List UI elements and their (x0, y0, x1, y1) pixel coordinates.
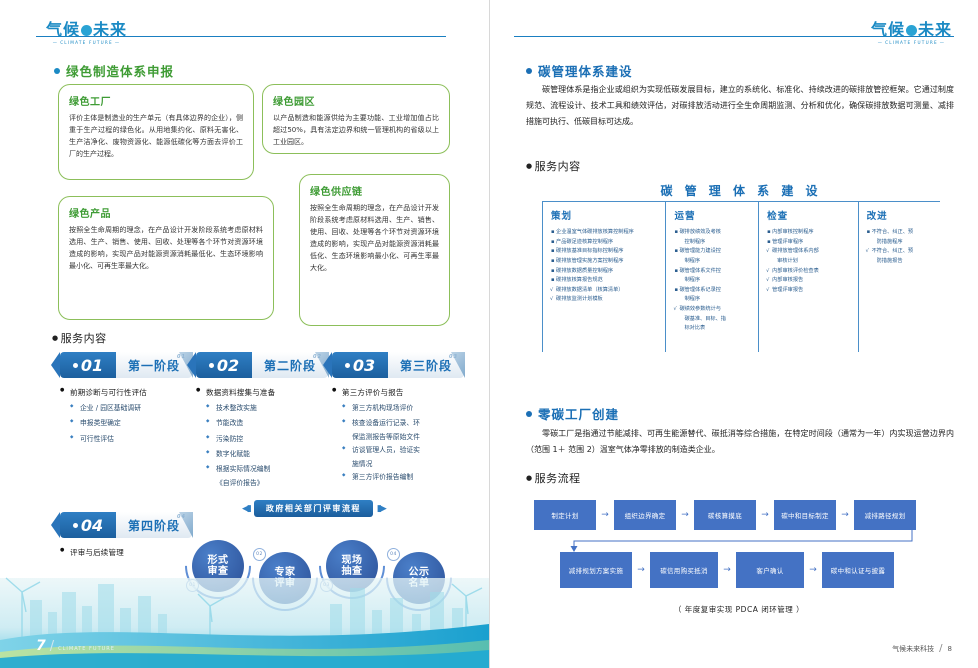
stage-ghost-number: 01 (177, 354, 186, 360)
progress-ring-icon (372, 531, 465, 624)
bullet-icon (526, 68, 532, 74)
gov-step-circle-1: 01 形式 审查 (192, 540, 244, 592)
arrow-icon: → (836, 510, 854, 520)
list-item: 内部审核控制程序 (767, 228, 853, 238)
step-index: 04 (387, 548, 400, 561)
list-item: 可行性评估 (60, 435, 192, 445)
stage-knob-icon (345, 363, 350, 368)
flow-caption: （ 年度复审实现 PDCA 闭环管理 ） (534, 604, 944, 615)
list-item: 审核计划 (767, 257, 853, 267)
list-item: 第三方机构现场评价 (332, 404, 464, 414)
list-item: 企业温室气体碳排放核算控制程序 (551, 228, 660, 238)
stage-ghost-number: 04 (177, 514, 186, 520)
card-title: 绿色供应链 (310, 183, 439, 198)
list-item: 防措施程序 (867, 238, 935, 248)
stage-ghost-number: 03 (449, 354, 458, 360)
list-item: 访谈管理人员，验证实 (332, 446, 464, 456)
page-number-right: 8 (948, 645, 952, 653)
flow-connector-wrap (534, 530, 944, 552)
page-number-left: 7 (36, 638, 46, 654)
progress-ring-icon (305, 519, 398, 612)
gov-step-circle-4: 04 公示 名单 (393, 552, 445, 604)
brand-logo-subtext: CLIMATE FUTURE (51, 40, 122, 45)
list-item: 控制程序 (674, 238, 753, 248)
footer-right: 气候未来科技 / 8 (892, 643, 952, 654)
subheading-service-content-left: 服务内容 (52, 330, 107, 346)
list-item: 碳排放监测计划模板 (551, 295, 660, 305)
column-header: 策划 (551, 208, 660, 222)
arrow-left-icon: ◀▮ (242, 504, 250, 514)
card-green-product: 绿色产品 按照全生命周期的理念，在产品设计开发阶段系统考虑原材料选用、生产、销售… (58, 196, 274, 320)
list-item: 第三方评价报告编制 (332, 473, 464, 483)
list-item: 技术整改实施 (196, 404, 328, 414)
stage-block-01: 01 第一阶段 01 前期诊断与可行性评估 企业 / 园区基础调研 申报类型确定… (60, 352, 192, 450)
list-item: 碳管理能力建设控 (674, 247, 753, 257)
list-item: 申报类型确定 (60, 419, 192, 429)
section-title-carbon-management: 碳管理体系建设 (526, 61, 633, 80)
list-item: 碳排放数据清单（核算清单） (551, 286, 660, 296)
list-item: 企业 / 园区基础调研 (60, 404, 192, 414)
list-item: 制程序 (674, 295, 753, 305)
arrow-icon: → (676, 510, 694, 520)
carbon-management-system-table: 碳 管 理 体 系 建 设 策划 企业温室气体碳排放核算控制程序 产品碳足迹核算… (542, 182, 940, 352)
card-green-factory: 绿色工厂 评价主体是制造业的生产单元（有具体边界的企业），侧重于生产过程的绿色化… (58, 84, 254, 180)
section-title-green-manufacturing: 绿色制造体系申报 (54, 61, 174, 80)
stage-knob-icon (209, 363, 214, 368)
flow-box: 碳中和目标制定 (774, 500, 836, 530)
table-column-improve: 改进 不符合、纠正、预 防措施程序 不符合、纠正、预 防措施报告 (858, 202, 940, 352)
stage-tag: 04 第四阶段 04 (60, 512, 192, 538)
list-item: 制程序 (674, 257, 753, 267)
gov-step-circle-3: 03 现场 抽查 (326, 540, 378, 592)
step-index: 03 (320, 579, 333, 592)
stage-block-04: 04 第四阶段 04 评审与后续管理 (60, 512, 192, 564)
stage-knob-icon (73, 363, 78, 368)
column-header: 改进 (867, 208, 935, 222)
logo-dot-icon (906, 25, 917, 36)
page-right: 气候未来 CLIMATE FUTURE 碳管理体系建设 碳管理体系是指企业或组织… (489, 0, 978, 668)
list-item: 不符合、纠正、预 (867, 228, 935, 238)
list-item: 不符合、纠正、预 (867, 247, 935, 257)
stage-list: 评审与后续管理 (60, 547, 192, 558)
list-item: 管理评审报告 (767, 286, 853, 296)
flow-row-2: 减排规划方案实施 → 碳信用购买抵消 → 客户确认 → 碳中和认证与披露 (534, 552, 944, 588)
section-title-text: 绿色制造体系申报 (66, 61, 174, 80)
footer-slash: / (50, 639, 54, 654)
column-header: 检查 (767, 208, 853, 222)
brand-logo-right: 气候未来 CLIMATE FUTURE (871, 22, 952, 45)
column-list: 不符合、纠正、预 防措施程序 不符合、纠正、预 防措施报告 (867, 228, 935, 267)
table-column-operation: 运营 碳排放绩效及考核 控制程序 碳管理能力建设控 制程序 碳管理体系文件控 制… (665, 202, 758, 352)
list-item-continuation: 保监测报告等原始文件 (332, 431, 464, 441)
brand-logo-left: 气候未来 CLIMATE FUTURE (46, 22, 127, 45)
footer-slash: / (939, 643, 942, 654)
list-item: 碳管理体系记录控 (674, 286, 753, 296)
list-item-continuation: 《自评价报告》 (196, 477, 328, 487)
stage-tag: 03 第三阶段 03 (332, 352, 464, 378)
paragraph-zero-carbon-factory: 零碳工厂是指通过节能减排、可再生能源替代、碳抵消等综合措施，在特定时间段（通常为… (526, 426, 954, 458)
list-item: 碳排放数据质量控制程序 (551, 267, 660, 277)
brand-logo-text: 气候未来 (46, 22, 127, 38)
zero-carbon-flow-diagram: 制定计划 → 组织边界确定 → 碳核算摸底 → 碳中和目标制定 → 减排路径规划… (534, 500, 944, 615)
footer-label-left: CLIMATE FUTURE (58, 646, 115, 654)
list-item: 碳排放核算报告规范 (551, 276, 660, 286)
brand-logo-subtext: CLIMATE FUTURE (876, 40, 947, 45)
stage-list: 第三方评价与报告 第三方机构现场评价 核查设备运行记录、环 保监测报告等原始文件… (332, 387, 464, 483)
logo-dot-icon (81, 25, 92, 36)
list-item: 节能改造 (196, 419, 328, 429)
list-item-main: 评审与后续管理 (60, 547, 192, 558)
card-body: 以产品制造和能源供给为主要功能、工业增加值占比超过50%，具有法定边界和统一管理… (273, 112, 439, 148)
column-list: 碳排放绩效及考核 控制程序 碳管理能力建设控 制程序 碳管理体系文件控 制程序 … (674, 228, 753, 334)
flow-box: 碳信用购买抵消 (650, 552, 718, 588)
list-item-continuation: 施情况 (332, 458, 464, 468)
step-index: 02 (253, 548, 266, 561)
step-index: 01 (186, 579, 199, 592)
list-item: 碳排放管理体系内部 (767, 247, 853, 257)
stage-knob-icon (73, 523, 78, 528)
card-body: 按照全生命周期的理念，在产品设计开发阶段系统考虑原材料选用、生产、销售、使用、回… (310, 202, 439, 274)
flow-box: 减排路径规划 (854, 500, 916, 530)
flow-box: 减排规划方案实施 (560, 552, 632, 588)
stage-tag: 02 第二阶段 02 (196, 352, 328, 378)
stage-label: 第一阶段 01 (116, 352, 192, 378)
list-item: 制程序 (674, 276, 753, 286)
table-column-plan: 策划 企业温室气体碳排放核算控制程序 产品碳足迹核算控制程序 碳排放基准目标指标… (542, 202, 665, 352)
section-title-text: 碳管理体系建设 (538, 61, 633, 80)
gov-review-banner-label: 政府相关部门评审流程 (254, 500, 373, 517)
list-item: 碳排放基准目标指标控制程序 (551, 247, 660, 257)
arrow-icon: → (632, 565, 650, 575)
card-title: 绿色园区 (273, 93, 439, 108)
stage-number: 03 (332, 352, 388, 378)
stage-block-03: 03 第三阶段 03 第三方评价与报告 第三方机构现场评价 核查设备运行记录、环… (332, 352, 464, 488)
table-column-check: 检查 内部审核控制程序 管理评审程序 碳排放管理体系内部 审核计划 内部审核评价… (758, 202, 858, 352)
section-title-zero-carbon-factory: 零碳工厂创建 (526, 404, 619, 423)
arrow-icon: → (804, 565, 822, 575)
flow-box: 碳中和认证与披露 (822, 552, 894, 588)
table-columns: 策划 企业温室气体碳排放核算控制程序 产品碳足迹核算控制程序 碳排放基准目标指标… (542, 202, 940, 352)
list-item: 根据实际情况编制 (196, 465, 328, 475)
stage-label: 第二阶段 02 (252, 352, 328, 378)
stage-number: 01 (60, 352, 116, 378)
card-body: 按照全生命周期的理念，在产品设计开发阶段系统考虑原材料选用、生产、销售、使用、回… (69, 224, 263, 272)
section-title-text: 零碳工厂创建 (538, 404, 619, 423)
arrow-right-icon: ▮▶ (377, 504, 385, 514)
list-item: 产品碳足迹核算控制程序 (551, 238, 660, 248)
list-item: 数字化赋能 (196, 450, 328, 460)
list-item-main: 第三方评价与报告 (332, 387, 464, 398)
flow-box: 碳核算摸底 (694, 500, 756, 530)
list-item-main: 前期诊断与可行性评估 (60, 387, 192, 398)
stage-list: 数据资料搜集与准备 技术整改实施 节能改造 污染防控 数字化赋能 根据实际情况编… (196, 387, 328, 487)
brand-logo-text: 气候未来 (871, 22, 952, 38)
card-body: 评价主体是制造业的生产单元（有具体边界的企业），侧重于生产过程的绿色化。从用地集… (69, 112, 243, 160)
column-list: 内部审核控制程序 管理评审程序 碳排放管理体系内部 审核计划 内部审核评价检查表… (767, 228, 853, 295)
arrow-icon: → (718, 565, 736, 575)
list-item: 碳绩效参数统计与 (674, 305, 753, 315)
stage-tag: 01 第一阶段 01 (60, 352, 192, 378)
list-item: 内部审核评价检查表 (767, 267, 853, 277)
table-title: 碳 管 理 体 系 建 设 (542, 182, 940, 199)
column-header: 运营 (674, 208, 753, 222)
card-title: 绿色工厂 (69, 93, 243, 108)
card-green-park: 绿色园区 以产品制造和能源供给为主要功能、工业增加值占比超过50%，具有法定边界… (262, 84, 450, 154)
flow-box: 客户确认 (736, 552, 804, 588)
stage-number: 02 (196, 352, 252, 378)
card-title: 绿色产品 (69, 205, 263, 220)
subheading-service-flow: 服务流程 (526, 470, 581, 486)
list-item: 碳管理体系文件控 (674, 267, 753, 277)
page-left: 气候未来 CLIMATE FUTURE 绿色制造体系申报 绿色工厂 评价主体是制… (0, 0, 489, 668)
column-list: 企业温室气体碳排放核算控制程序 产品碳足迹核算控制程序 碳排放基准目标指标控制程… (551, 228, 660, 305)
gov-review-banner: ◀▮ 政府相关部门评审流程 ▮▶ (242, 500, 385, 517)
list-item: 标对比表 (674, 324, 753, 334)
subheading-service-content-right: 服务内容 (526, 158, 581, 174)
stage-ghost-number: 02 (313, 354, 322, 360)
footer-left: 7 / CLIMATE FUTURE (36, 638, 115, 654)
progress-ring-icon (238, 531, 331, 624)
paragraph-carbon-management: 碳管理体系是指企业或组织为实现低碳发展目标，建立的系统化、标准化、持续改进的碳排… (526, 82, 954, 130)
list-item: 管理评审程序 (767, 238, 853, 248)
list-item: 碳排放管理实施方案控制程序 (551, 257, 660, 267)
arrow-icon: → (756, 510, 774, 520)
flow-box: 制定计划 (534, 500, 596, 530)
flow-row-1: 制定计划 → 组织边界确定 → 碳核算摸底 → 碳中和目标制定 → 减排路径规划 (534, 500, 944, 530)
stage-number: 04 (60, 512, 116, 538)
list-item: 碳基准、目标、指 (674, 315, 753, 325)
list-item: 碳排放绩效及考核 (674, 228, 753, 238)
stage-label: 第三阶段 03 (388, 352, 464, 378)
bullet-icon (526, 411, 532, 417)
stage-block-02: 02 第二阶段 02 数据资料搜集与准备 技术整改实施 节能改造 污染防控 数字… (196, 352, 328, 492)
list-item: 污染防控 (196, 435, 328, 445)
flow-box: 组织边界确定 (614, 500, 676, 530)
gov-step-circle-2: 02 专家 评审 (259, 552, 311, 604)
card-green-supply-chain: 绿色供应链 按照全生命周期的理念，在产品设计开发阶段系统考虑原材料选用、生产、销… (299, 174, 450, 326)
list-item: 核查设备运行记录、环 (332, 419, 464, 429)
stage-label: 第四阶段 04 (116, 512, 192, 538)
bullet-icon (54, 68, 60, 74)
stage-list: 前期诊断与可行性评估 企业 / 园区基础调研 申报类型确定 可行性评估 (60, 387, 192, 445)
list-item-main: 数据资料搜集与准备 (196, 387, 328, 398)
list-item: 防措施报告 (867, 257, 935, 267)
arrow-icon: → (596, 510, 614, 520)
list-item: 内部审核报告 (767, 276, 853, 286)
footer-label-right: 气候未来科技 (892, 644, 934, 654)
document-spread: 气候未来 CLIMATE FUTURE 绿色制造体系申报 绿色工厂 评价主体是制… (0, 0, 978, 668)
